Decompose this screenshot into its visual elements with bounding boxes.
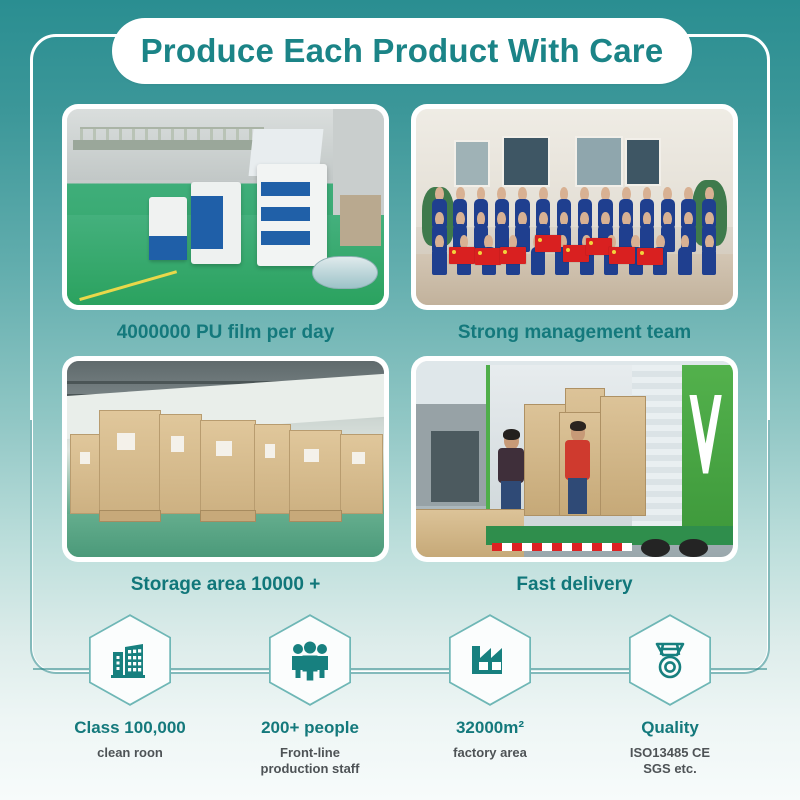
photo-cell-management-team: Strong management team xyxy=(411,104,738,356)
photo-management-team-image xyxy=(416,109,733,305)
photo-caption-management-team: Strong management team xyxy=(411,310,738,356)
carton-stack xyxy=(254,424,291,514)
photo-production-line[interactable] xyxy=(62,104,389,310)
photo-grid: 4000000 PU film per day xyxy=(62,104,738,608)
photo-storage-area[interactable] xyxy=(62,356,389,562)
stat-hexagon xyxy=(89,614,171,706)
stat-value: 32000m² xyxy=(456,718,524,738)
stat-clean-room[interactable]: Class 100,000 clean roon xyxy=(45,614,215,777)
carton-stack xyxy=(159,414,202,514)
photo-caption-fast-delivery: Fast delivery xyxy=(411,562,738,608)
stat-label-line1: Front-line xyxy=(261,745,360,761)
carton-stack xyxy=(340,434,383,514)
truck-wheel xyxy=(641,539,670,557)
stat-value: Quality xyxy=(641,718,699,738)
flag-icon xyxy=(609,247,635,264)
truck-wheel xyxy=(679,539,708,557)
medal-icon xyxy=(648,638,692,682)
photo-management-team[interactable] xyxy=(411,104,738,310)
stats-row: Class 100,000 clean roon 200+ people Fro… xyxy=(40,614,760,777)
stat-label-line2: production staff xyxy=(261,761,360,777)
cargo-carton xyxy=(600,396,646,516)
window-3 xyxy=(575,136,623,187)
pallet xyxy=(99,510,161,522)
machine-panel-2 xyxy=(261,207,310,221)
stat-value: 200+ people xyxy=(261,718,359,738)
photo-caption-storage-area: Storage area 10000 + xyxy=(62,562,389,608)
building-icon xyxy=(109,639,151,681)
window-2 xyxy=(502,136,550,187)
film-roll xyxy=(312,256,377,289)
flag-icon xyxy=(637,248,663,265)
pallet xyxy=(200,510,256,522)
stat-label: factory area xyxy=(453,745,527,761)
stat-value: Class 100,000 xyxy=(74,718,186,738)
stat-quality[interactable]: Quality ISO13485 CE SGS etc. xyxy=(585,614,755,777)
stat-hexagon xyxy=(449,614,531,706)
worker-left xyxy=(498,432,523,514)
stat-hexagon xyxy=(269,614,351,706)
stat-label: clean roon xyxy=(97,745,163,761)
container-green-door xyxy=(682,365,733,530)
carton-stack xyxy=(200,420,256,514)
photo-storage-area-image xyxy=(67,361,384,557)
worker-right xyxy=(565,424,590,514)
carton-stack xyxy=(99,410,161,514)
factory-icon xyxy=(468,640,512,680)
stat-staff[interactable]: 200+ people Front-line production staff xyxy=(225,614,395,777)
photo-fast-delivery-image xyxy=(416,361,733,557)
mezzanine-deck xyxy=(73,140,270,150)
person xyxy=(677,235,692,275)
stat-hexagon xyxy=(629,614,711,706)
flag-icon xyxy=(449,247,475,264)
person xyxy=(702,235,717,275)
machine-unit-2 xyxy=(191,182,242,264)
machine-panel-3 xyxy=(261,231,310,245)
person xyxy=(432,235,447,275)
stat-label-line1: ISO13485 CE xyxy=(630,745,710,761)
window-4 xyxy=(625,138,661,185)
stat-label: Front-line production staff xyxy=(261,745,360,777)
photo-production-line-image xyxy=(67,109,384,305)
photo-cell-fast-delivery: Fast delivery xyxy=(411,356,738,608)
flag-icon xyxy=(500,247,526,264)
people-icon xyxy=(288,639,332,681)
reflective-stripe xyxy=(492,543,631,551)
photo-row-1: 4000000 PU film per day xyxy=(62,104,738,356)
page-title-pill: Produce Each Product With Care xyxy=(112,18,692,84)
carton-stack xyxy=(289,430,342,514)
flag-icon xyxy=(535,235,561,252)
machine-panel-1 xyxy=(261,182,310,196)
photo-caption-production-line: 4000000 PU film per day xyxy=(62,310,389,356)
page-title: Produce Each Product With Care xyxy=(141,32,664,70)
photo-cell-production-line: 4000000 PU film per day xyxy=(62,104,389,356)
flag-icon xyxy=(475,248,501,265)
staff-group xyxy=(432,187,717,269)
machine-unit-3 xyxy=(257,164,327,266)
machine-unit-1 xyxy=(149,197,187,260)
stat-factory-area[interactable]: 32000m² factory area xyxy=(405,614,575,777)
stat-label: ISO13485 CE SGS etc. xyxy=(630,745,710,777)
stat-label-line2: SGS etc. xyxy=(630,761,710,777)
photo-row-2: Storage area 10000 + xyxy=(62,356,738,608)
pallet xyxy=(289,510,342,522)
window-1 xyxy=(454,140,490,187)
photo-cell-storage-area: Storage area 10000 + xyxy=(62,356,389,608)
side-cabinet xyxy=(340,195,381,246)
photo-fast-delivery[interactable] xyxy=(411,356,738,562)
